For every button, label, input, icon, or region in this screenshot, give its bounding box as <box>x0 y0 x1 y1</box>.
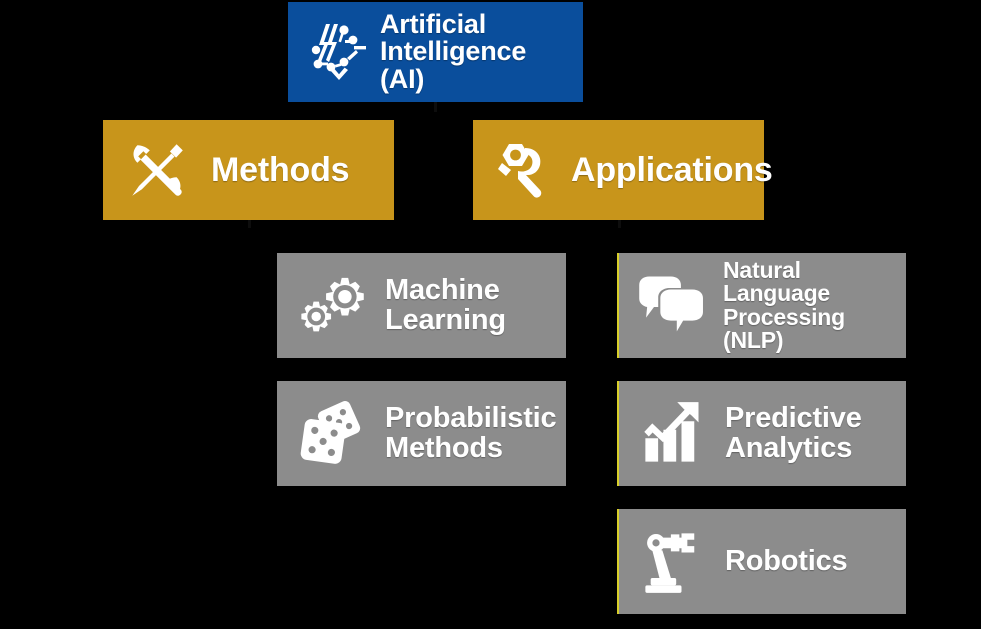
connector-methods-down <box>248 220 251 228</box>
node-label: Artificial Intelligence (AI) <box>374 11 575 94</box>
node-robotics[interactable]: Robotics <box>617 509 906 614</box>
node-methods[interactable]: Methods <box>103 120 394 220</box>
dice-icon <box>291 397 375 471</box>
robot-arm-icon <box>631 525 715 599</box>
node-label: Probabilistic Methods <box>375 404 558 463</box>
bar-chart-arrow-icon <box>631 397 715 471</box>
node-label: Robotics <box>715 547 898 577</box>
node-natural-language-processing[interactable]: Natural Language Processing (NLP) <box>617 253 906 358</box>
node-predictive-analytics[interactable]: Predictive Analytics <box>617 381 906 486</box>
connector-applications-down <box>618 220 621 228</box>
node-label: Natural Language Processing (NLP) <box>715 259 898 353</box>
speech-bubbles-icon <box>631 269 715 343</box>
crossed-wrench-screwdriver-icon <box>119 135 195 205</box>
node-label: Predictive Analytics <box>715 404 898 463</box>
node-applications[interactable]: Applications <box>473 120 764 220</box>
wrench-nut-icon <box>487 135 561 205</box>
node-artificial-intelligence[interactable]: Artificial Intelligence (AI) <box>288 2 583 102</box>
node-label: Machine Learning <box>375 276 558 335</box>
node-probabilistic-methods[interactable]: Probabilistic Methods <box>277 381 566 486</box>
node-label: Methods <box>195 153 394 188</box>
gears-icon <box>291 269 375 343</box>
connector-root-down <box>434 102 437 112</box>
ai-taxonomy-diagram: Artificial Intelligence (AI) Methods <box>0 0 981 629</box>
node-machine-learning[interactable]: Machine Learning <box>277 253 566 358</box>
node-label: Applications <box>561 153 773 188</box>
ai-circuit-brain-icon <box>302 16 374 88</box>
